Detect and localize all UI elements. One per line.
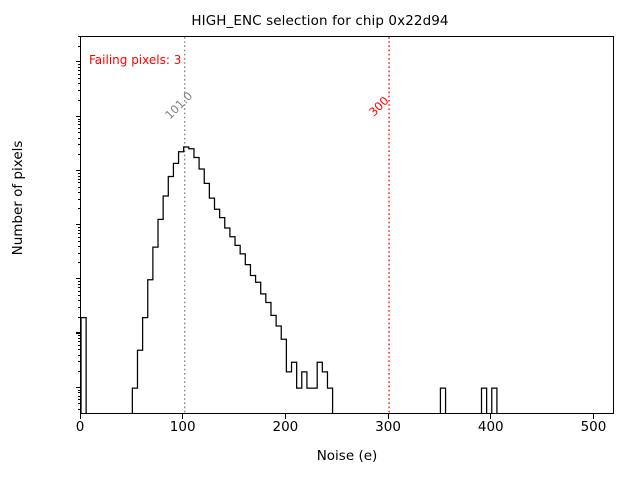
x-tick-label: 0 bbox=[50, 419, 110, 435]
y-axis-label: Number of pixels bbox=[10, 8, 26, 388]
page-title: HIGH_ENC selection for chip 0x22d94 bbox=[0, 13, 640, 29]
failing-pixels-annotation: Failing pixels: 3 bbox=[89, 53, 181, 67]
x-tick-label: 400 bbox=[461, 419, 521, 435]
x-tick-major bbox=[80, 414, 81, 419]
x-tick-label: 500 bbox=[563, 419, 623, 435]
x-tick-major bbox=[285, 414, 286, 419]
x-tick-major bbox=[388, 414, 389, 419]
histogram-outline bbox=[81, 147, 497, 414]
x-tick-label: 100 bbox=[153, 419, 213, 435]
x-tick-label: 300 bbox=[358, 419, 418, 435]
x-tick-major bbox=[593, 414, 594, 419]
figure-canvas: HIGH_ENC selection for chip 0x22d94 Numb… bbox=[0, 0, 640, 480]
histogram-svg bbox=[81, 37, 614, 414]
x-axis-label: Noise (e) bbox=[80, 448, 614, 464]
x-tick-major bbox=[490, 414, 491, 419]
x-tick-label: 200 bbox=[255, 419, 315, 435]
x-tick-major bbox=[182, 414, 183, 419]
plot-area bbox=[80, 36, 614, 414]
